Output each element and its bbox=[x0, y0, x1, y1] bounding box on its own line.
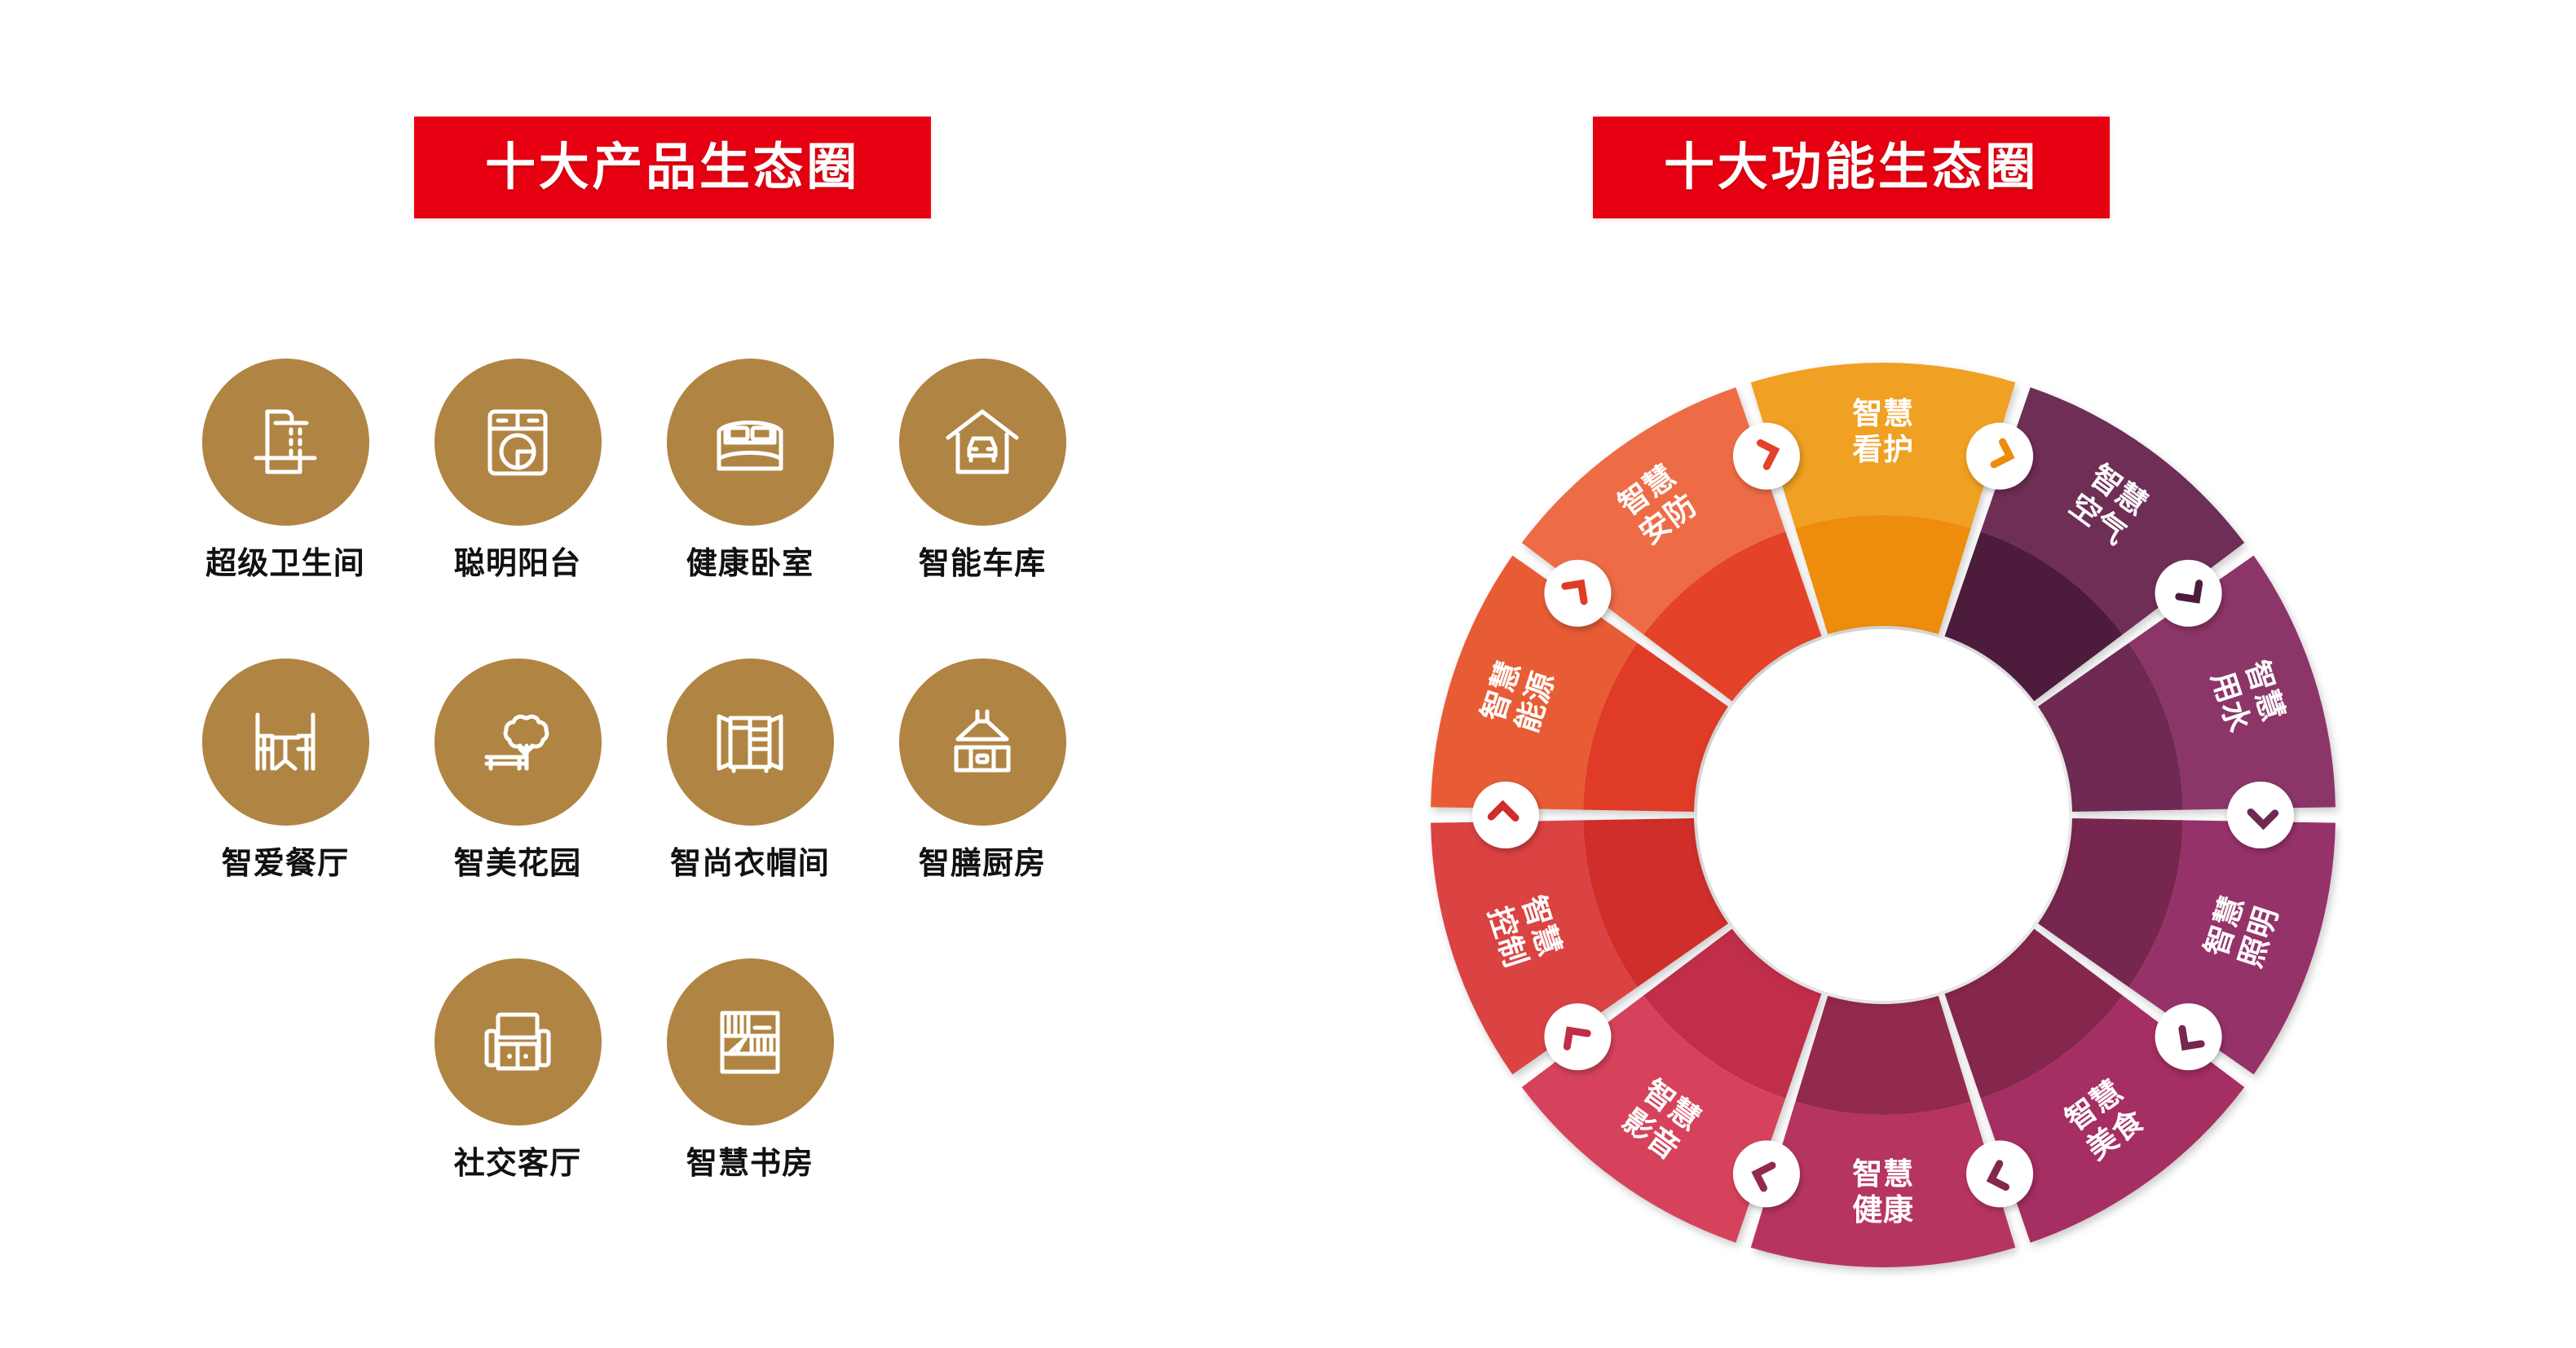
product-item[interactable]: 智美花园 bbox=[412, 659, 624, 879]
tree-bench-icon bbox=[434, 659, 602, 826]
left-title-banner: 十大产品生态圈 bbox=[414, 117, 931, 218]
product-item-label: 聪明阳台 bbox=[412, 548, 624, 579]
connector-node-circle bbox=[1544, 1003, 1611, 1070]
product-item-label: 社交客厅 bbox=[412, 1148, 624, 1179]
sofa-icon bbox=[434, 958, 602, 1126]
segment-label-line: 看护 bbox=[1852, 433, 1913, 467]
function-ecosystem-wheel: 智慧看护智慧空气智慧用水智慧照明智慧美食智慧健康智慧影音智慧控制智慧能源智慧安防 bbox=[1414, 350, 2352, 1288]
chevron-up-left-icon[interactable] bbox=[1733, 1140, 1800, 1207]
wheel-center-hub bbox=[1697, 629, 2069, 1001]
chevron-up-right-icon[interactable] bbox=[1733, 423, 1800, 490]
shower-icon bbox=[202, 359, 369, 526]
product-item-label: 健康卧室 bbox=[644, 548, 856, 579]
product-item[interactable]: 智爱餐厅 bbox=[179, 659, 391, 879]
chevron-up-icon[interactable] bbox=[1544, 1003, 1611, 1070]
right-title-text: 十大功能生态圈 bbox=[1664, 143, 2039, 193]
wardrobe-icon bbox=[667, 659, 834, 826]
connector-node-circle bbox=[1472, 782, 1539, 848]
product-item-label: 超级卫生间 bbox=[179, 548, 391, 579]
segment-label-line: 智慧 bbox=[1852, 397, 1913, 431]
slide-canvas: 十大产品生态圈 十大功能生态圈 超级卫生间 聪明阳台 健康卧室 智能车库 智爱餐… bbox=[0, 0, 2576, 1348]
product-item-label: 智慧书房 bbox=[644, 1148, 856, 1179]
connector-node-circle bbox=[2155, 1003, 2222, 1070]
connector-node-circle bbox=[2155, 560, 2222, 627]
connector-node-circle bbox=[1966, 1140, 2033, 1207]
product-item[interactable]: 聪明阳台 bbox=[412, 359, 624, 579]
chevron-down-left-icon[interactable] bbox=[2227, 782, 2294, 848]
chevron-right-up-icon[interactable] bbox=[1544, 560, 1611, 627]
washing-machine-icon bbox=[434, 359, 602, 526]
dining-table-icon bbox=[202, 659, 369, 826]
chevron-left-icon[interactable] bbox=[1966, 1140, 2033, 1207]
product-item[interactable]: 智尚衣帽间 bbox=[644, 659, 856, 879]
segment-label-line: 健康 bbox=[1852, 1193, 1913, 1227]
range-hood-icon bbox=[899, 659, 1066, 826]
chevron-down-icon[interactable] bbox=[2155, 560, 2222, 627]
wheel-hub bbox=[1697, 629, 2069, 1001]
product-item[interactable]: 智能车库 bbox=[876, 359, 1088, 579]
chevron-left-down-icon[interactable] bbox=[2155, 1003, 2222, 1070]
connector-node-circle bbox=[1733, 1140, 1800, 1207]
left-title-text: 十大产品生态圈 bbox=[485, 143, 860, 193]
bookshelf-icon bbox=[667, 958, 834, 1126]
product-item[interactable]: 超级卫生间 bbox=[179, 359, 391, 579]
product-item-label: 智尚衣帽间 bbox=[644, 848, 856, 879]
chevron-up-right-corner-icon[interactable] bbox=[1472, 782, 1539, 848]
product-item[interactable]: 智慧书房 bbox=[644, 958, 856, 1179]
product-item-label: 智膳厨房 bbox=[876, 848, 1088, 879]
connector-node-circle bbox=[1544, 560, 1611, 627]
connector-node-circle bbox=[2227, 782, 2294, 848]
product-icon-grid: 超级卫生间 聪明阳台 健康卧室 智能车库 智爱餐厅 智美花园 智尚衣帽间 bbox=[163, 359, 1141, 1288]
product-item[interactable]: 社交客厅 bbox=[412, 958, 624, 1179]
product-item[interactable]: 智膳厨房 bbox=[876, 659, 1088, 879]
connector-node-circle bbox=[1966, 423, 2033, 490]
right-title-banner: 十大功能生态圈 bbox=[1593, 117, 2110, 218]
segment-inner-band bbox=[1795, 515, 1970, 634]
product-item-label: 智爱餐厅 bbox=[179, 848, 391, 879]
connector-node-circle bbox=[1733, 423, 1800, 490]
product-item-label: 智能车库 bbox=[876, 548, 1088, 579]
bed-icon bbox=[667, 359, 834, 526]
product-item-label: 智美花园 bbox=[412, 848, 624, 879]
segment-inner-band bbox=[1795, 996, 1970, 1115]
chevron-down-right-icon[interactable] bbox=[1966, 423, 2033, 490]
garage-car-icon bbox=[899, 359, 1066, 526]
segment-label-line: 智慧 bbox=[1852, 1157, 1913, 1192]
wheel-svg: 智慧看护智慧空气智慧用水智慧照明智慧美食智慧健康智慧影音智慧控制智慧能源智慧安防 bbox=[1414, 350, 2352, 1288]
product-item[interactable]: 健康卧室 bbox=[644, 359, 856, 579]
